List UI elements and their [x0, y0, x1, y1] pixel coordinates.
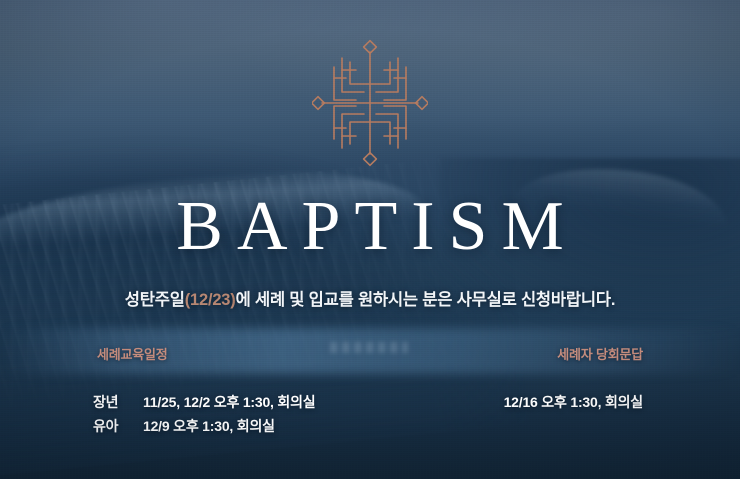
education-row-value: 12/9 오후 1:30, 회의실: [143, 414, 275, 438]
education-row-label: 유아: [93, 414, 135, 438]
education-section-heading: 세례교육일정: [97, 345, 168, 365]
examination-section-heading: 세례자 당회문답: [557, 345, 643, 365]
announcement-text: 성탄주일(12/23)에 세례 및 입교를 원하시는 분은 사무실로 신청바랍니…: [0, 289, 740, 311]
announcement-text-before: 성탄주일: [125, 291, 185, 309]
section-headings: 세례교육일정 세례자 당회문답: [0, 345, 740, 365]
examination-schedule-value: 12/16 오후 1:30, 회의실: [504, 390, 643, 414]
baptism-poster: BAPTISM 성탄주일(12/23)에 세례 및 입교를 원하시는 분은 사무…: [0, 0, 740, 479]
poster-content: BAPTISM 성탄주일(12/23)에 세례 및 입교를 원하시는 분은 사무…: [0, 0, 740, 479]
announcement-text-after: 에 세례 및 입교를 원하시는 분은 사무실로 신청바랍니다.: [236, 291, 616, 309]
page-title: BAPTISM: [0, 191, 740, 263]
cross-snowflake-ornament-icon: [312, 38, 428, 168]
education-row-label: 장년: [93, 390, 135, 414]
list-item: 유아 12/9 오후 1:30, 회의실: [0, 414, 740, 438]
education-row-value: 11/25, 12/2 오후 1:30, 회의실: [143, 390, 315, 414]
announcement-date-accent: (12/23): [185, 291, 236, 309]
